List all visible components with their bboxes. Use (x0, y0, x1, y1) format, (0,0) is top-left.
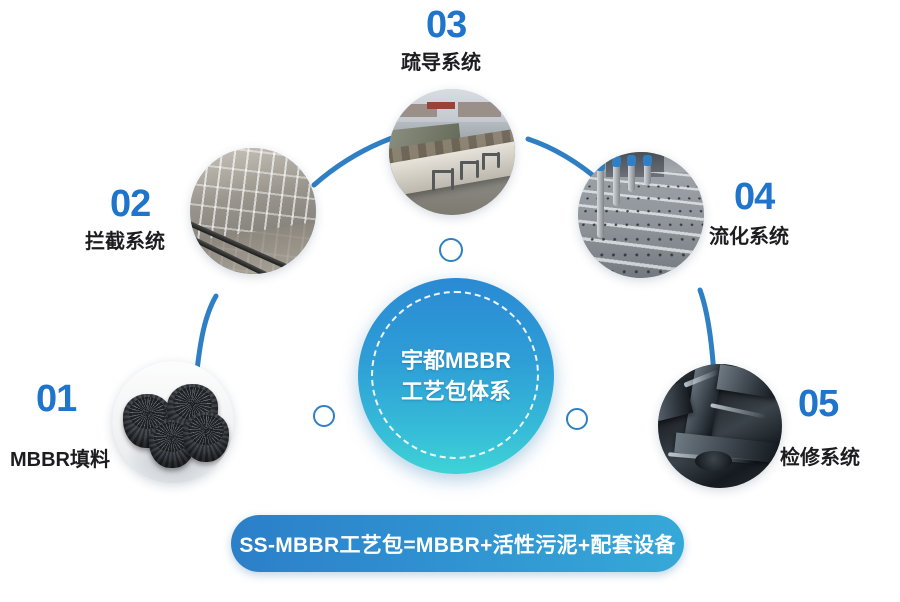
center-hub-text: 宇都MBBR 工艺包体系 (358, 278, 554, 474)
node-number-03: 03 (426, 6, 466, 44)
node-number-02: 02 (110, 185, 150, 223)
node-title-01: MBBR填料 (10, 450, 110, 470)
photo-aeration-basin-channels (389, 89, 515, 215)
diagram-canvas: 01 MBBR填料 02 拦截系统 (0, 0, 900, 602)
summary-banner[interactable]: SS-MBBR工艺包=MBBR+活性污泥+配套设备 (231, 515, 684, 572)
decor-ring-left (313, 405, 335, 427)
summary-banner-text: SS-MBBR工艺包=MBBR+活性污泥+配套设备 (239, 529, 675, 559)
decor-ring-top (439, 238, 463, 262)
node-number-01: 01 (36, 380, 76, 418)
node-photo-04[interactable] (578, 152, 704, 278)
node-photo-03[interactable] (389, 89, 515, 215)
node-photo-02[interactable] (190, 148, 316, 274)
node-title-03: 疏导系统 (401, 53, 481, 73)
node-title-05: 检修系统 (780, 448, 860, 468)
photo-diffuser-grid-deck (578, 152, 704, 278)
node-photo-01[interactable] (112, 361, 234, 483)
hub-line-1: 宇都MBBR (401, 345, 511, 376)
decor-ring-right (566, 408, 588, 430)
center-hub[interactable]: 宇都MBBR 工艺包体系 (358, 278, 554, 474)
connector-02-03 (314, 138, 392, 185)
node-title-02: 拦截系统 (85, 232, 165, 252)
photo-bar-screen-grating (190, 148, 316, 274)
hub-line-2: 工艺包体系 (401, 376, 511, 407)
node-title-04: 流化系统 (709, 227, 789, 247)
node-number-04: 04 (734, 178, 774, 216)
node-photo-05[interactable] (658, 364, 782, 488)
node-number-05: 05 (798, 385, 838, 423)
photo-steel-maintenance-structure (658, 364, 782, 488)
photo-mbbr-carrier-media (112, 361, 234, 483)
